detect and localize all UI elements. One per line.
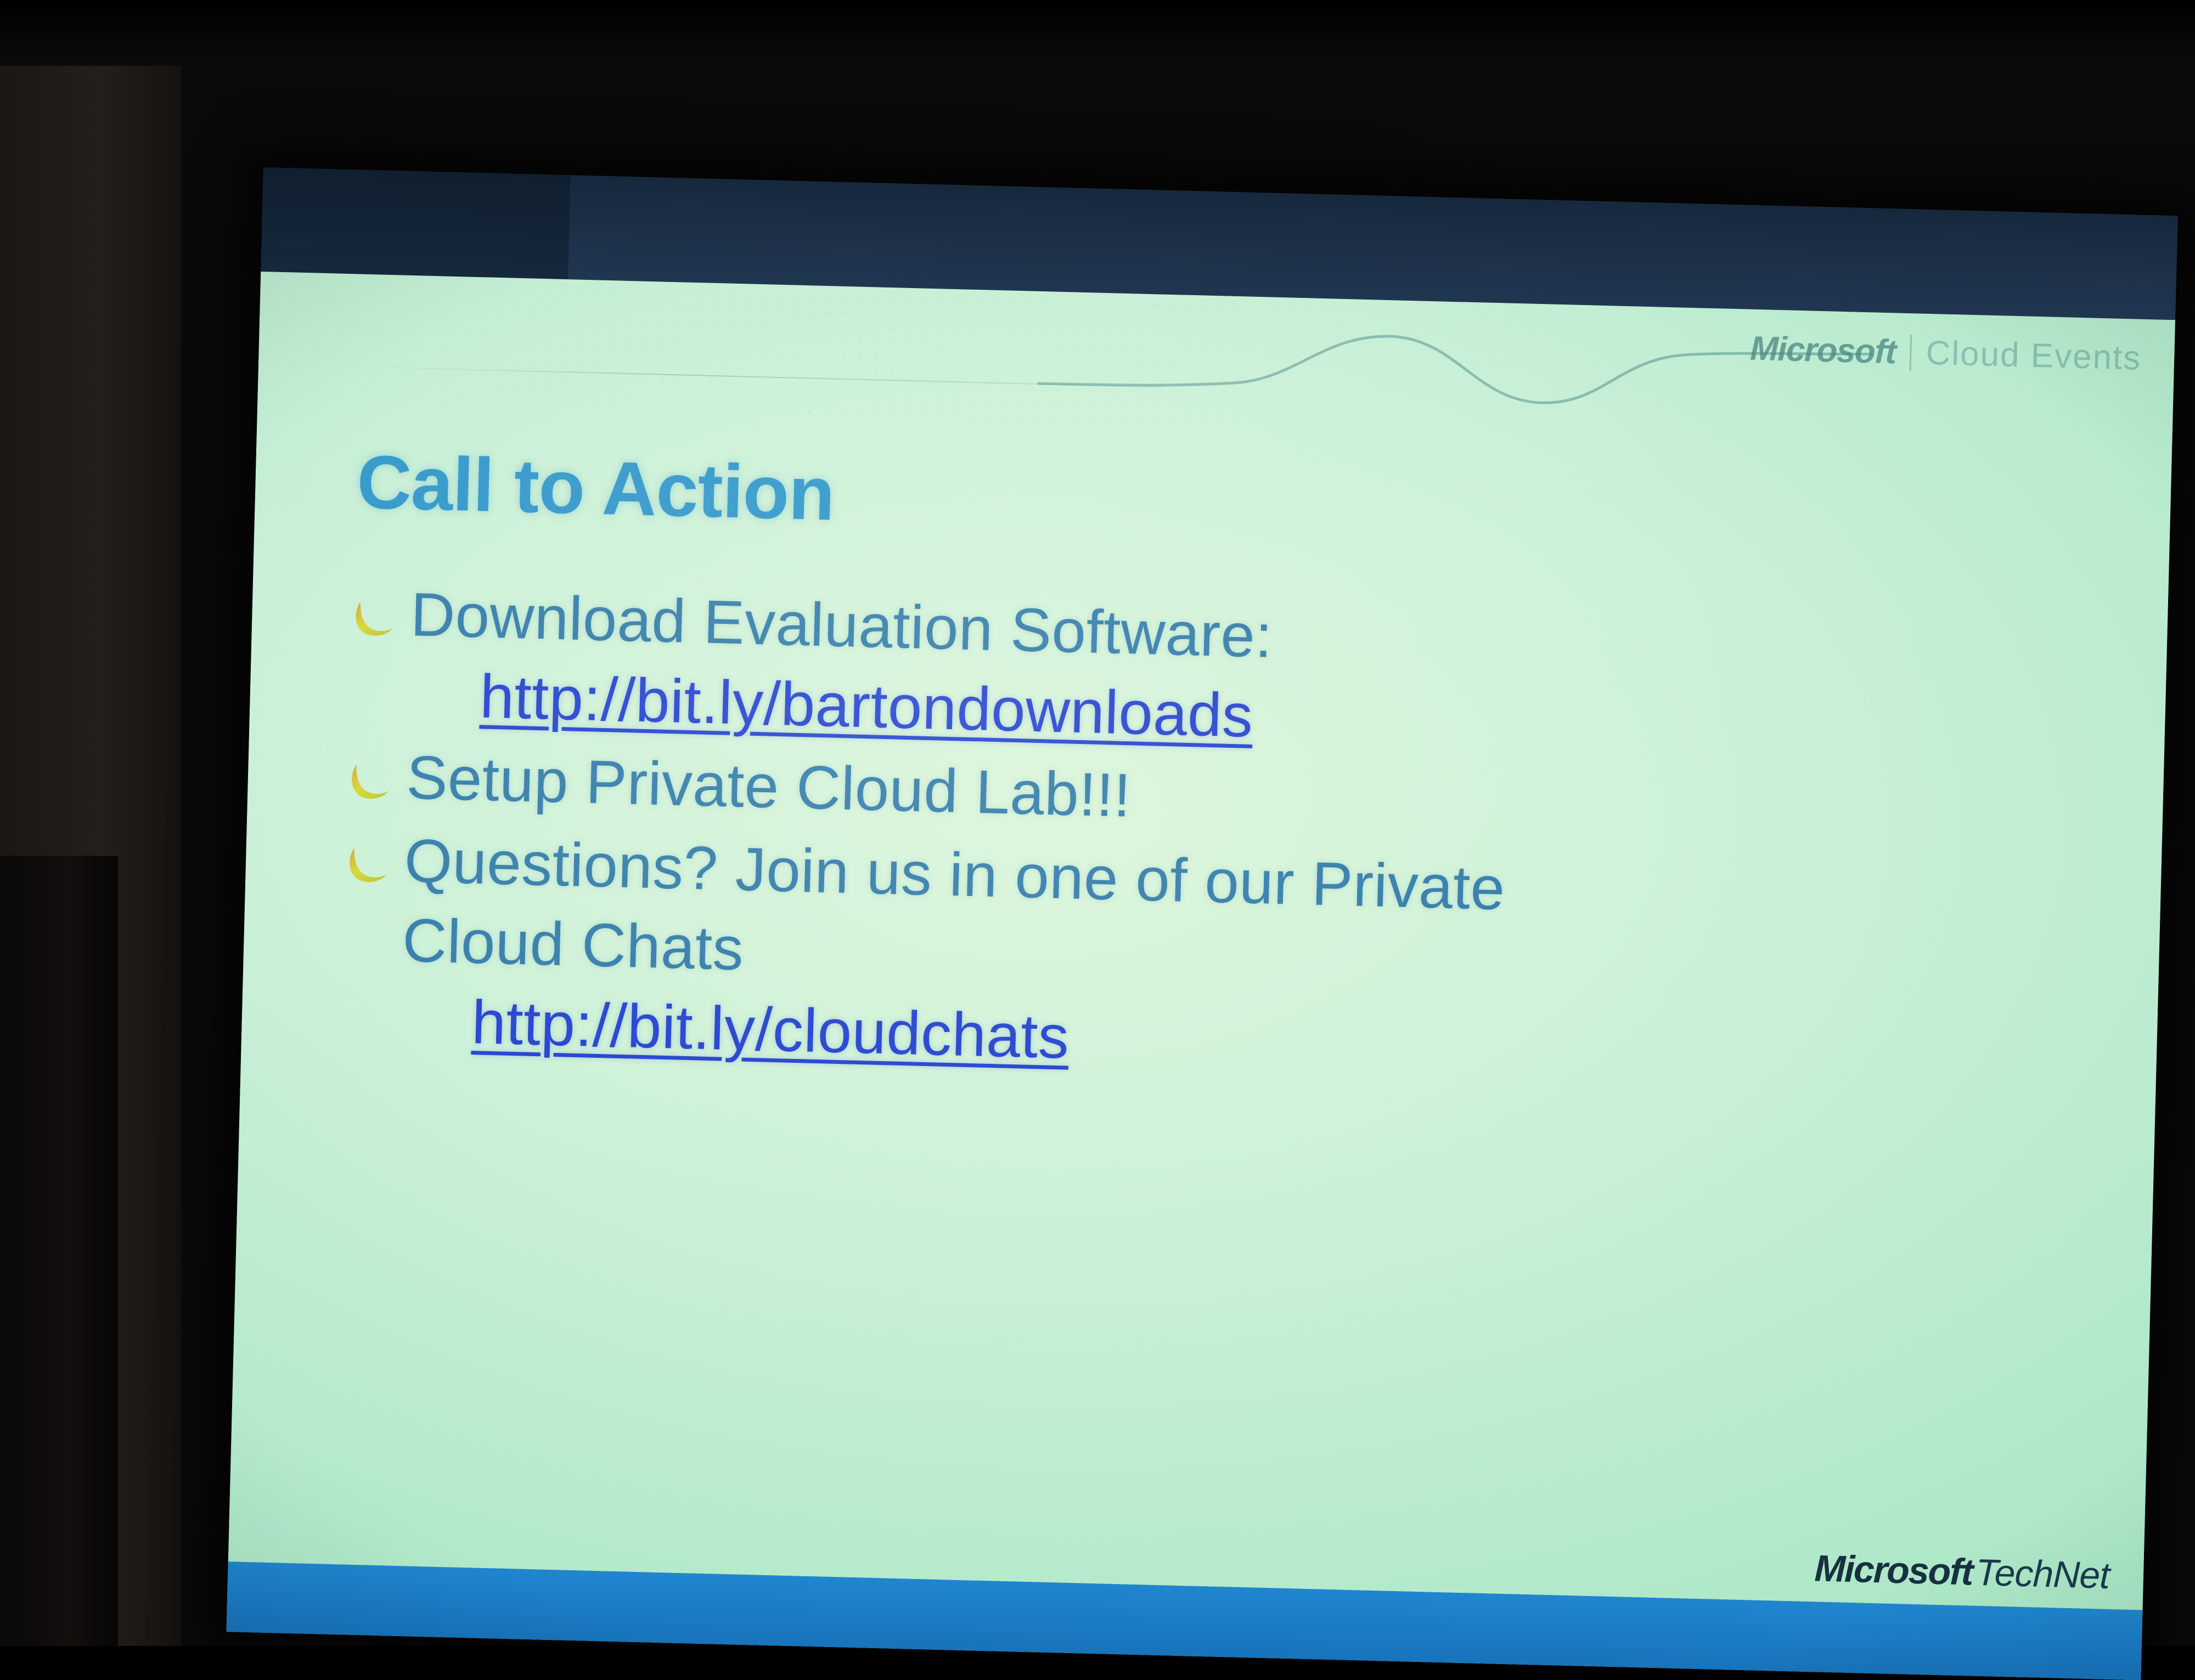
brand-separator-icon: [1910, 335, 1912, 371]
bullet-list: Download Evaluation Software: http://bit…: [342, 573, 2110, 1106]
list-item: Questions? Join us in one of our Private…: [342, 819, 2104, 1103]
crescent-moon-bullet-icon: [347, 844, 403, 887]
crescent-moon-bullet-icon: [353, 598, 409, 640]
screen-top-band-left: [261, 167, 571, 279]
cloud-events-label: Cloud Events: [1926, 334, 2142, 378]
cloud-chats-link[interactable]: http://bit.ly/cloudchats: [471, 988, 1070, 1072]
wave-swoosh-decoration: [1037, 308, 1873, 433]
microsoft-wordmark-footer: Microsoft: [1814, 1547, 1973, 1593]
projection-screen-area: Microsoft Cloud Events Call to Action: [0, 0, 2195, 1646]
list-item-content: Questions? Join us in one of our Private…: [399, 821, 1506, 1088]
crescent-moon-bullet-icon: [349, 762, 405, 804]
list-item-content: Setup Private Cloud Lab!!!: [406, 737, 1132, 836]
projection-screen: Microsoft Cloud Events Call to Action: [226, 167, 2177, 1680]
microsoft-wordmark: Microsoft: [1749, 329, 1896, 372]
list-item-label: Setup Private Cloud Lab!!!: [406, 737, 1132, 836]
list-item-content: Download Evaluation Software: http://bit…: [408, 574, 1274, 756]
download-evaluation-software-link[interactable]: http://bit.ly/bartondownloads: [479, 662, 1254, 750]
page-title: Call to Action: [356, 439, 836, 538]
footer-brand-lockup: Microsoft TechNet: [1814, 1547, 2110, 1597]
powerpoint-slide: Microsoft Cloud Events Call to Action: [226, 272, 2175, 1680]
technet-wordmark: TechNet: [1975, 1551, 2110, 1597]
